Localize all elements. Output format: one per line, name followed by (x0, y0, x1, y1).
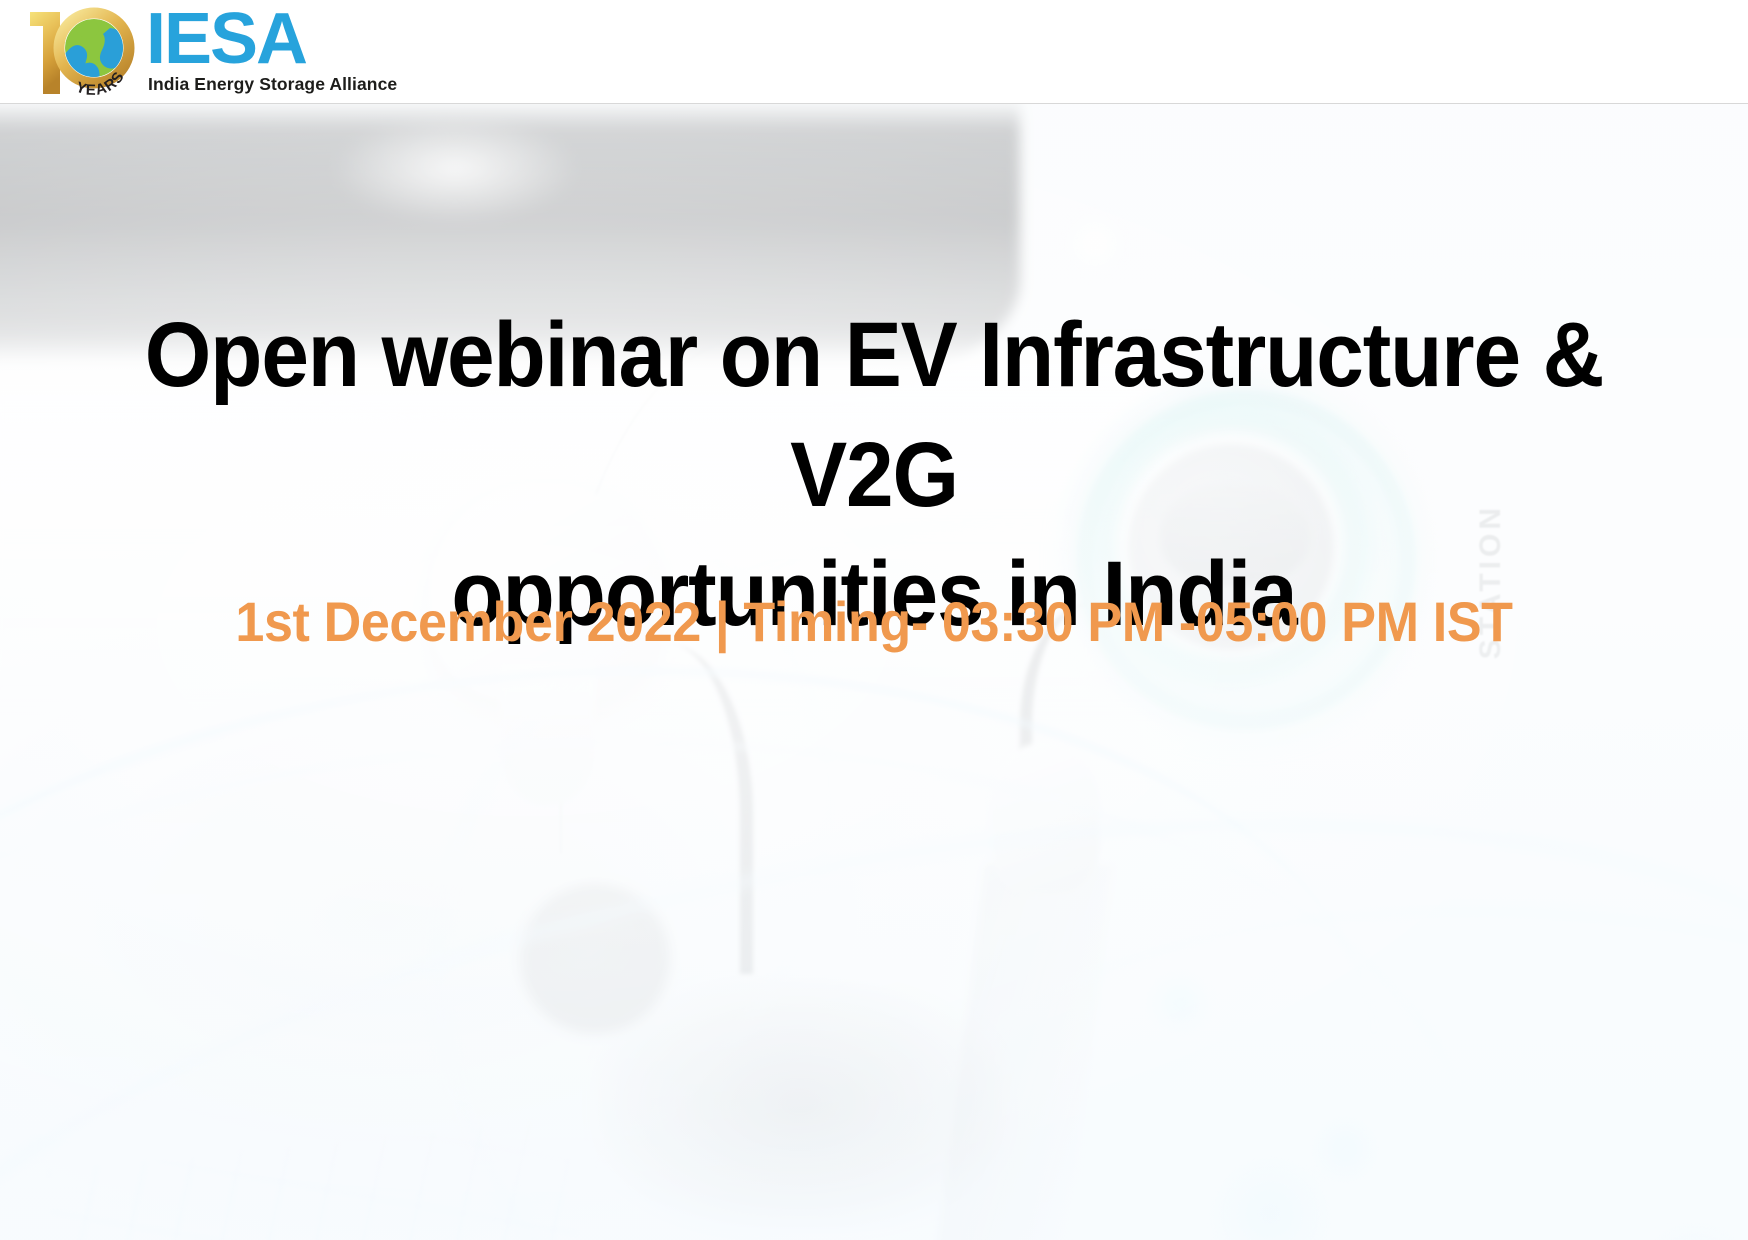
photo-fade-overlay-2 (0, 104, 1748, 1240)
anniversary-logo-icon: YEARS (18, 4, 140, 100)
background-photo: STATION (0, 104, 1748, 1240)
webinar-banner: STATION Open webinar on EV Infrastructur… (0, 0, 1748, 1240)
logo-text-block: IESA India Energy Storage Alliance (142, 4, 397, 100)
logo-brand-text: IESA (146, 11, 397, 69)
header-divider (0, 103, 1748, 104)
logo-header: YEARS IESA India Energy Storage Alliance (0, 0, 1748, 104)
logo-tagline-text: India Energy Storage Alliance (148, 74, 397, 95)
